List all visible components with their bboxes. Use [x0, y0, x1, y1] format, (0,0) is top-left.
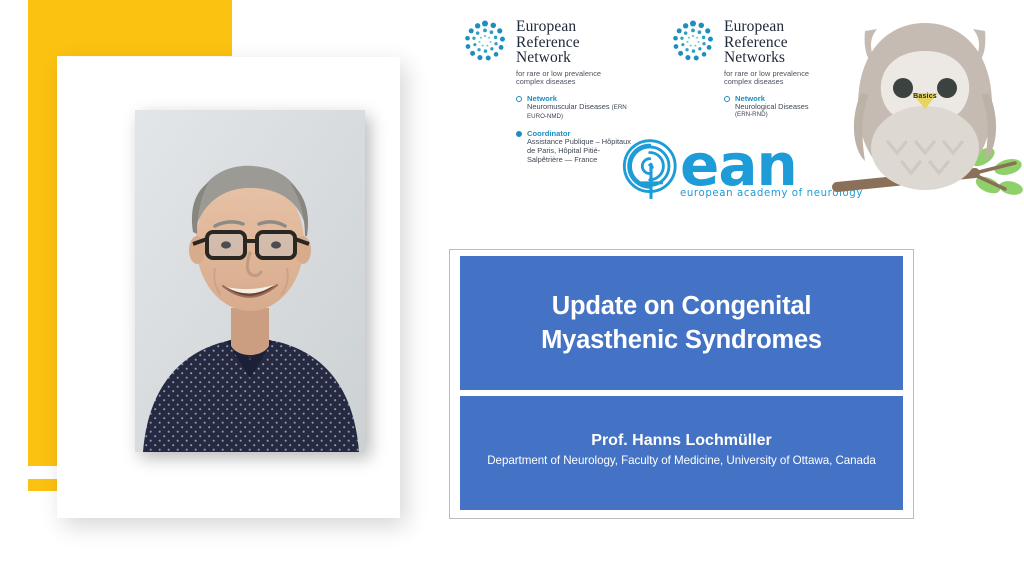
ean-brain-maze-icon: [620, 137, 682, 199]
ring-bullet-icon: [516, 96, 522, 102]
yellow-accent-stub: [28, 479, 57, 491]
ern-dot-spiral-icon: [462, 18, 508, 64]
ern-network-item: Network Neuromuscular Diseases (ERN EURO…: [516, 94, 635, 122]
ern2-network-value-code: (ERN-RND): [735, 111, 836, 120]
owl-label: Basics: [825, 93, 1024, 100]
ern-title-line2: Reference: [516, 35, 635, 51]
yellow-horizontal-bar: [28, 0, 232, 56]
slide-title-box: Update on Congenital Myasthenic Syndrome…: [460, 256, 903, 390]
ern-network-value-text: Neuromuscular Diseases: [527, 102, 610, 111]
yellow-vertical-bar: [28, 0, 57, 466]
ern-subtitle: for rare or low prevalence complex disea…: [516, 70, 628, 87]
title-line-2: Myasthenic Syndromes: [541, 326, 822, 354]
portrait-photo: [135, 110, 365, 452]
logo-strip: European Reference Network for rare or l…: [455, 8, 1015, 223]
ring-bullet-icon: [724, 96, 730, 102]
ern2-title-line1: European: [724, 19, 836, 35]
ern-dot-spiral-icon: [670, 18, 716, 64]
owl-on-branch-icon: [825, 5, 1024, 227]
ern2-network-item: Network Neurological Diseases (ERN-RND): [724, 94, 836, 120]
ern-coordinator-value: Assistance Publique – Hôpitaux de Paris,…: [527, 138, 631, 164]
ern-euro-nmd-logo: European Reference Network for rare or l…: [462, 18, 635, 164]
page-title: Update on Congenital Myasthenic Syndrome…: [541, 289, 822, 357]
author-name: Prof. Hanns Lochmüller: [591, 430, 771, 451]
ern2-network-value: Neurological Diseases: [735, 103, 836, 112]
author-box: Prof. Hanns Lochmüller Department of Neu…: [460, 396, 903, 510]
ern-title-line3: Network: [516, 50, 635, 66]
ern-title-line1: European: [516, 19, 635, 35]
ern-network-value: Neuromuscular Diseases (ERN EURO-NMD): [527, 103, 635, 122]
ern-rnd-logo: European Reference Networks for rare or …: [670, 18, 836, 120]
ern2-subtitle: for rare or low prevalence complex disea…: [724, 70, 836, 87]
filled-bullet-icon: [516, 131, 522, 137]
title-line-1: Update on Congenital: [552, 292, 812, 320]
ern-coordinator-item: Coordinator Assistance Publique – Hôpita…: [516, 129, 635, 164]
ern2-title-line2: Reference: [724, 35, 836, 51]
owl-mascot: Basics: [825, 5, 1024, 227]
presentation-slide: European Reference Network for rare or l…: [0, 0, 1024, 576]
author-affiliation: Department of Neurology, Faculty of Medi…: [487, 452, 876, 469]
ern2-title-line3: Networks: [724, 50, 836, 66]
